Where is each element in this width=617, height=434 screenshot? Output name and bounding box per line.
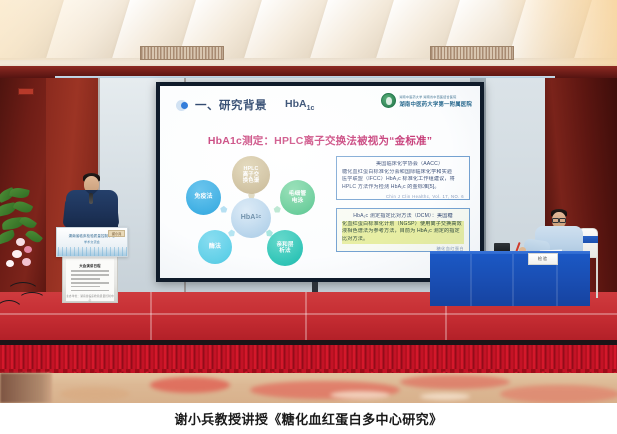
table-name-card: 检验 <box>528 253 558 265</box>
floor-carpet <box>0 373 617 403</box>
hba1c-method-diagram: HPLC 离子交 换色谱 免疫法 毛细管 电泳 酶法 亲和层 析法 <box>182 158 327 270</box>
photo-caption: 谢小兵教授讲授《糖化血红蛋白多中心研究》 <box>174 409 442 428</box>
diagram-node-label: 毛细管 电泳 <box>289 191 307 204</box>
slide-red-title: HbA1c测定：HPLC离子交换法被视为“金标准” <box>160 133 480 148</box>
flower-icon <box>22 258 31 266</box>
diagram-node-center-hba1c: HbA1c <box>231 198 271 238</box>
flower-icon <box>6 260 14 267</box>
citation-line: 比对方法。 <box>342 236 464 244</box>
slide-subject-label: HbA1c <box>285 98 314 112</box>
diagram-node-label: 免疫法 <box>194 194 212 201</box>
slide-section-title: 一、研究背景 <box>195 97 267 113</box>
citation-line: 液相色谱法为参考方法，目前为 HbA₁c 测定的指定 <box>342 228 464 236</box>
podium-program-footer: 主办单位：湖南省临床检验质量控制中心 <box>66 294 114 302</box>
hospital-logo: 湖南中医药大学 湖南省中西医结合医院 湖南中医药大学第一附属医院 <box>381 93 472 108</box>
citation-line: HPLC 方法作为检测 HbA₁c 的金标准[5]。 <box>342 184 464 192</box>
citation-box-dcm: HbA₁c 测定指定比对方法（DCM）：美国糖 化血红蛋白标准化计划（NGSP）… <box>336 208 470 252</box>
diagram-node-label: 亲和层 析法 <box>276 242 293 255</box>
citation-line: 美国临床化学协会（AACC） <box>342 161 464 169</box>
hospital-logo-subtext: 湖南中医药大学 湖南省中西医结合医院 <box>399 94 472 99</box>
conference-photo: 一、研究背景 HbA1c 湖南中医药大学 湖南省中西医结合医院 湖南中医药大学第… <box>0 0 617 403</box>
flower-icon <box>24 246 32 253</box>
diagram-node-immunoassay: 免疫法 <box>186 180 221 215</box>
diagram-node-hplc: HPLC 离子交 换色谱 <box>232 156 270 194</box>
flower-icon <box>12 250 22 258</box>
screenshot-root: 一、研究背景 HbA1c 湖南中医药大学 湖南省中西医结合医院 湖南中医药大学第… <box>0 0 617 434</box>
podium-program-sheet: 大会演讲日程 主办单位：湖南省临床检验质量控制中心 <box>66 259 114 301</box>
microphone-icon <box>89 193 93 204</box>
citation-reference: Chin J Clin Healthc, Vol. 17, NO. 6 <box>342 194 464 199</box>
podium-name-plate: 谢小兵 <box>108 230 125 237</box>
slide-header: 一、研究背景 HbA1c <box>176 97 314 113</box>
ceiling-vent-left <box>140 46 224 60</box>
hospital-logo-name: 湖南中医药大学第一附属医院 <box>399 100 472 108</box>
arrow-marker-icon <box>219 205 228 214</box>
arrow-marker-icon <box>273 205 282 214</box>
hospital-emblem-icon <box>381 93 396 108</box>
glasses-icon <box>552 218 566 221</box>
diagram-node-enzymatic: 酶法 <box>198 230 232 264</box>
panel-table-cloth <box>430 254 590 306</box>
diagram-center-label: HbA <box>241 214 256 222</box>
podium-banner-subtitle: 学术交流会 <box>57 240 127 244</box>
diagram-node-affinity-chromatography: 亲和层 析法 <box>267 230 303 266</box>
floor-shadow-left <box>0 373 52 403</box>
diagram-node-label: 酶法 <box>209 244 221 251</box>
bullet-dot-icon <box>176 99 189 112</box>
flower-icon <box>16 238 25 246</box>
diagram-node-label: HPLC 离子交 换色谱 <box>243 166 259 184</box>
presentation-slide: 一、研究背景 HbA1c 湖南中医药大学 湖南省中西医结合医院 湖南中医药大学第… <box>160 86 480 278</box>
stage-skirt <box>0 345 617 373</box>
projection-screen: 一、研究背景 HbA1c 湖南中医药大学 湖南省中西医结合医院 湖南中医药大学第… <box>160 86 480 278</box>
ceiling <box>0 0 617 72</box>
exit-sign-icon <box>18 88 34 95</box>
citation-line: 糖化血红蛋白标准化分会和国际临床化学和实验 <box>342 169 464 177</box>
podium-banner: 湖南省临床检验质量控制中心 学术交流会 谢小兵 <box>56 227 128 257</box>
diagram-node-capillary-electrophoresis: 毛细管 电泳 <box>280 180 315 215</box>
podium-program-title: 大会演讲日程 <box>66 263 114 268</box>
citation-box-aacc: 美国临床化学协会（AACC） 糖化血红蛋白标准化分会和国际临床化学和实验 医学联… <box>336 156 470 200</box>
citation-line: 化血红蛋白标准化计划（NGSP）使用离子交换高效 <box>342 221 464 229</box>
podium-skyline-graphic <box>57 247 127 256</box>
decorative-plant <box>0 188 52 273</box>
citation-line: HbA₁c 测定指定比对方法（DCM）：美国糖 <box>342 213 464 221</box>
caption-bar: 谢小兵教授讲授《糖化血红蛋白多中心研究》 <box>0 403 617 434</box>
citation-line: 医学联盟（IFCC）HbA₁c 标准化工作组建议，将 <box>342 176 464 184</box>
ceiling-vent-right <box>430 46 514 60</box>
